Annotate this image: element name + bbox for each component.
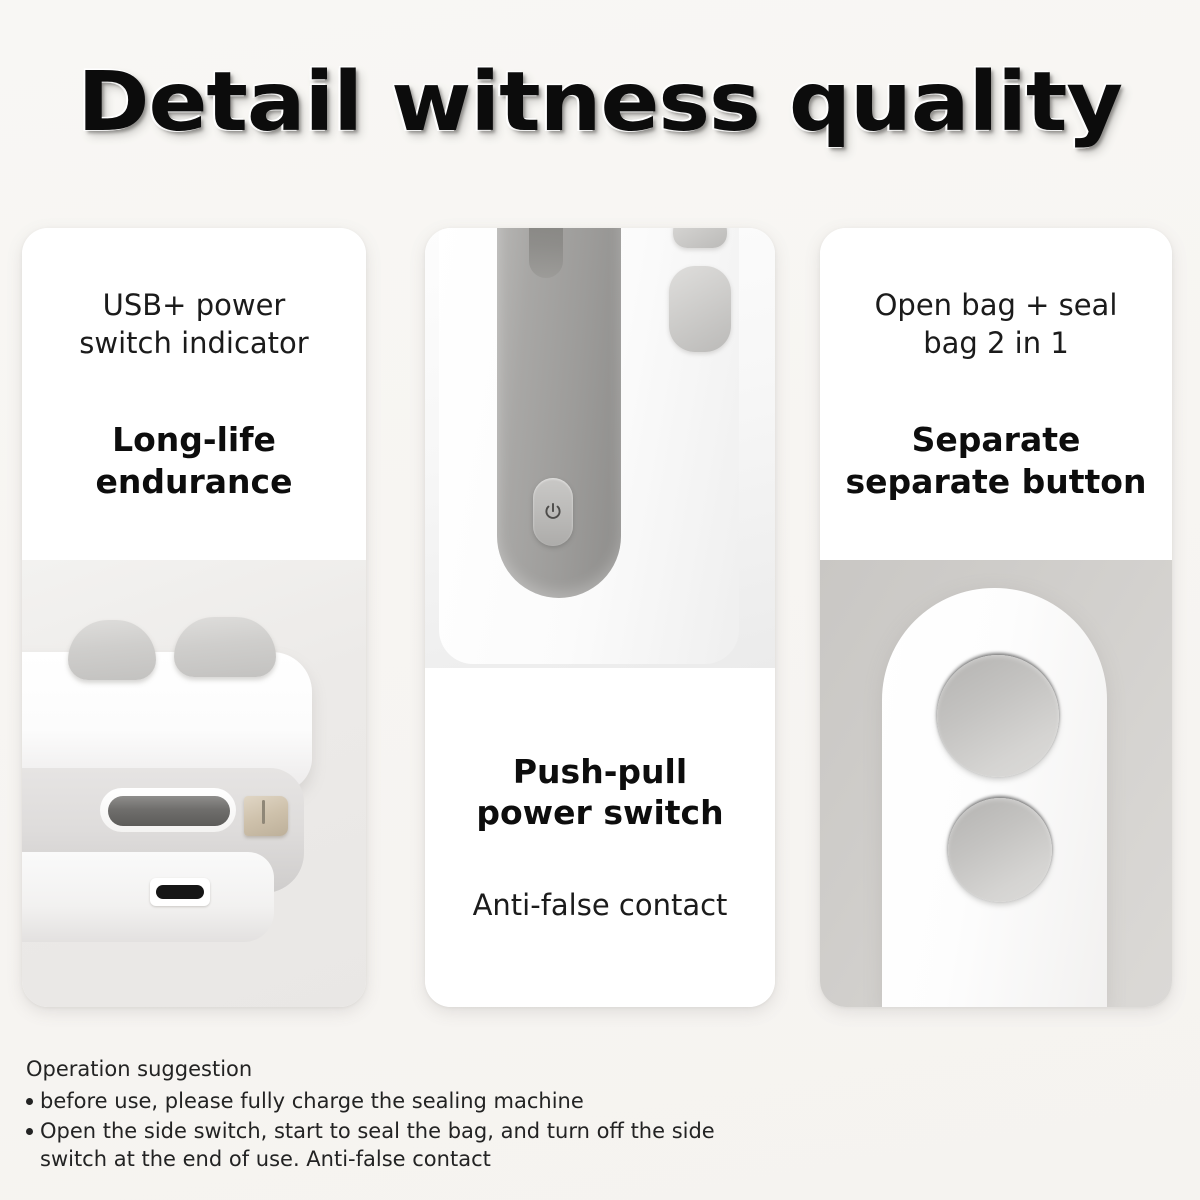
- product-photo-power-switch: [425, 228, 775, 668]
- note-item: Open the side switch, start to seal the …: [26, 1118, 726, 1173]
- feature-card-separate-button[interactable]: Open bag + seal bag 2 in 1 Separate sepa…: [820, 228, 1172, 1007]
- feature-card-push-pull-switch[interactable]: Push-pull power switch Anti-false contac…: [425, 228, 775, 1007]
- card-subtitle-line2: bag 2 in 1: [923, 324, 1069, 363]
- feature-card-usb-power[interactable]: USB+ power switch indicator Long-life en…: [22, 228, 366, 1007]
- power-button[interactable]: [533, 478, 573, 546]
- operation-suggestion-block: Operation suggestion before use, please …: [26, 1056, 726, 1174]
- notes-heading: Operation suggestion: [26, 1056, 726, 1084]
- round-button-lower: [948, 798, 1052, 902]
- card-text-block: Push-pull power switch Anti-false contac…: [425, 668, 775, 1007]
- card-text-block: USB+ power switch indicator Long-life en…: [22, 228, 366, 560]
- bullet-icon: [26, 1128, 33, 1135]
- bullet-icon: [26, 1098, 33, 1105]
- card-subtitle-line1: Anti-false contact: [473, 886, 728, 925]
- feature-card-row: USB+ power switch indicator Long-life en…: [0, 228, 1200, 1008]
- card-subtitle-line1: USB+ power: [103, 286, 286, 325]
- card-heading-line2: separate button: [846, 461, 1147, 503]
- device-nub-upper: [673, 228, 727, 248]
- card-heading-line1: Separate: [912, 419, 1081, 461]
- round-button-upper: [937, 655, 1059, 777]
- usb-c-port-icon: [150, 878, 210, 906]
- page-title-container: Detail witness quality: [0, 62, 1200, 144]
- device-knob-left: [68, 620, 156, 680]
- device-lower-housing: [22, 852, 274, 942]
- card-subtitle-line1: Open bag + seal: [875, 286, 1118, 325]
- device-knob-right: [174, 617, 276, 677]
- device-nub-lower: [669, 266, 731, 352]
- power-icon: [542, 501, 564, 523]
- note-text: Open the side switch, start to seal the …: [40, 1118, 726, 1173]
- device-slide-switch: [108, 796, 230, 826]
- product-photo-usb-port: [22, 560, 366, 1007]
- page-title: Detail witness quality: [78, 62, 1123, 144]
- card-heading-line1: Long-life: [112, 419, 276, 461]
- note-text: before use, please fully charge the seal…: [40, 1088, 726, 1116]
- card-heading-line2: power switch: [476, 792, 723, 834]
- card-subtitle-line2: switch indicator: [79, 324, 308, 363]
- card-heading-line1: Push-pull: [513, 751, 687, 793]
- device-cutter-blade: [244, 796, 288, 836]
- note-item: before use, please fully charge the seal…: [26, 1088, 726, 1116]
- card-text-block: Open bag + seal bag 2 in 1 Separate sepa…: [820, 228, 1172, 560]
- card-heading-line2: endurance: [96, 461, 293, 503]
- product-photo-separate-buttons: [820, 560, 1172, 1007]
- device-channel-highlight: [529, 228, 563, 278]
